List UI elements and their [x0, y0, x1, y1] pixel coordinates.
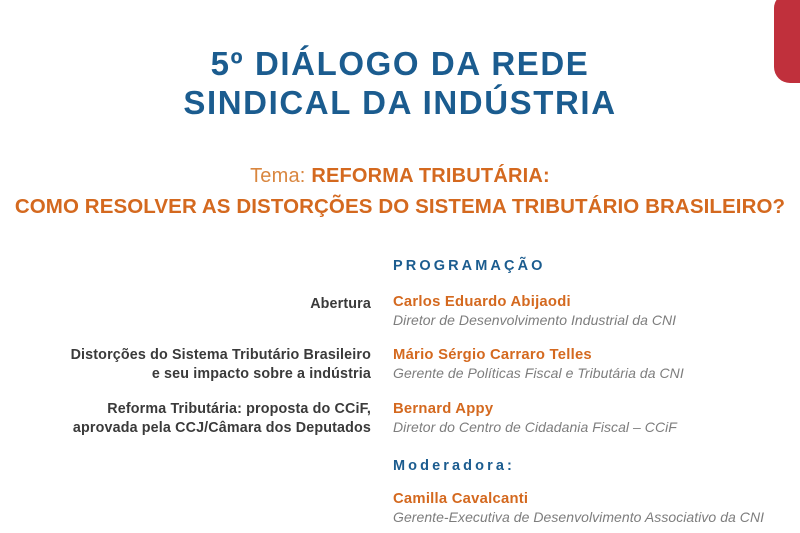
tema-label: Tema: — [250, 165, 311, 187]
agenda-entry-1: Carlos Eduardo Abijaodi Diretor de Desen… — [393, 293, 676, 329]
tema-value: REFORMA TRIBUTÁRIA: — [311, 165, 550, 187]
moderator-name: Camilla Cavalcanti — [393, 490, 764, 508]
agenda-entry-2: Mário Sérgio Carraro Telles Gerente de P… — [393, 346, 684, 382]
programacao-heading: PROGRAMAÇÃO — [393, 258, 546, 274]
agenda-topic-line: Reforma Tributária: proposta do CCiF, — [73, 400, 371, 419]
agenda-entry-3: Bernard Appy Diretor do Centro de Cidada… — [393, 400, 677, 436]
speaker-role: Diretor de Desenvolvimento Industrial da… — [393, 311, 676, 329]
speaker-name: Carlos Eduardo Abijaodi — [393, 293, 676, 311]
agenda-topic-abertura: Abertura — [310, 295, 371, 314]
title-line-2: SINDICAL DA INDÚSTRIA — [0, 83, 800, 122]
moderator-role: Gerente-Executiva de Desenvolvimento Ass… — [393, 508, 764, 526]
agenda-topic-line: e seu impacto sobre a indústria — [71, 365, 371, 384]
agenda-topic-reforma: Reforma Tributária: proposta do CCiF, ap… — [73, 400, 371, 438]
title-line-1: 5º DIÁLOGO DA REDE — [0, 44, 800, 83]
agenda-topic-distorcoes: Distorções do Sistema Tributário Brasile… — [71, 346, 371, 384]
speaker-name: Mário Sérgio Carraro Telles — [393, 346, 684, 364]
speaker-role: Gerente de Políticas Fiscal e Tributária… — [393, 364, 684, 382]
agenda-topic-line: Abertura — [310, 295, 371, 314]
subtitle: Tema: REFORMA TRIBUTÁRIA: COMO RESOLVER … — [0, 162, 800, 221]
subtitle-line-1: Tema: REFORMA TRIBUTÁRIA: — [0, 162, 800, 192]
presentation-slide: 5º DIÁLOGO DA REDE SINDICAL DA INDÚSTRIA… — [0, 0, 800, 533]
moderadora-heading: Moderadora: — [393, 458, 515, 474]
agenda-topic-line: Distorções do Sistema Tributário Brasile… — [71, 346, 371, 365]
moderator-entry: Camilla Cavalcanti Gerente-Executiva de … — [393, 490, 764, 526]
agenda-section: PROGRAMAÇÃO Abertura Carlos Eduardo Abij… — [0, 255, 800, 533]
agenda-topic-line: aprovada pela CCJ/Câmara dos Deputados — [73, 419, 371, 438]
speaker-role: Diretor do Centro de Cidadania Fiscal – … — [393, 418, 677, 436]
speaker-name: Bernard Appy — [393, 400, 677, 418]
subtitle-question-line: COMO RESOLVER AS DISTORÇÕES DO SISTEMA T… — [0, 192, 800, 221]
page-title: 5º DIÁLOGO DA REDE SINDICAL DA INDÚSTRIA — [0, 44, 800, 122]
